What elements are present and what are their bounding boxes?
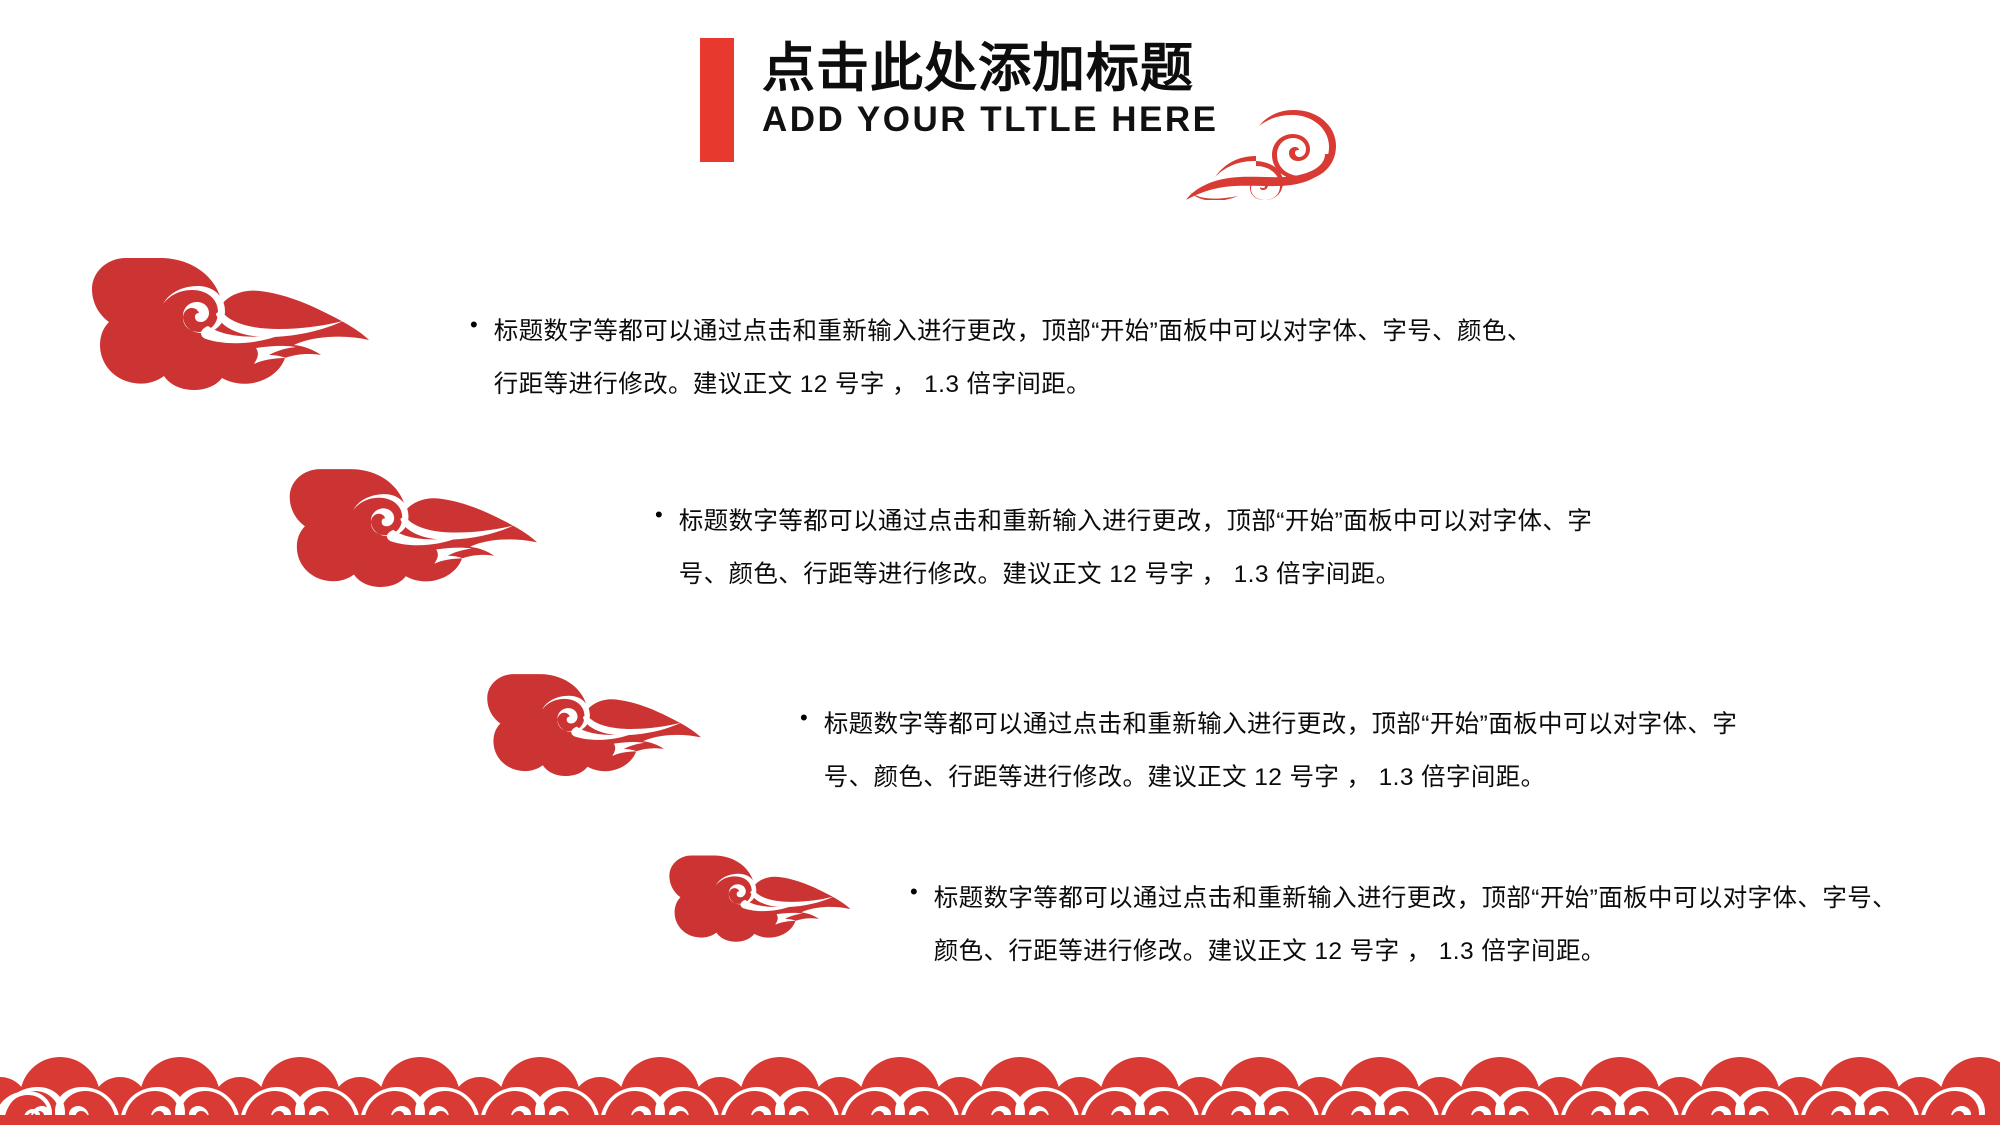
content-row: • 标题数字等都可以通过点击和重新输入进行更改，顶部“开始”面板中可以对字体、字… — [0, 830, 2000, 1020]
content-row: • 标题数字等都可以通过点击和重新输入进行更改，顶部“开始”面板中可以对字体、字… — [0, 650, 2000, 840]
title-text-group: 点击此处添加标题 ADD YOUR TLTLE HERE — [762, 38, 1219, 142]
bullet-line-1: 标题数字等都可以通过点击和重新输入进行更改，顶部“开始”面板中可以对字体、字 — [824, 711, 1738, 738]
bullet-line-1: 标题数字等都可以通过点击和重新输入进行更改，顶部“开始”面板中可以对字体、字号、… — [494, 318, 1532, 345]
bullet-marker: • — [470, 305, 478, 345]
content-row: • 标题数字等都可以通过点击和重新输入进行更改，顶部“开始”面板中可以对字体、字… — [0, 420, 2000, 640]
bullet-text: 标题数字等都可以通过点击和重新输入进行更改，顶部“开始”面板中可以对字体、字 号… — [824, 698, 1738, 804]
auspicious-cloud-icon — [70, 250, 370, 395]
bullet-marker: • — [655, 495, 663, 535]
bullet-line-2: 号、颜色、行距等进行修改。建议正文 12 号字 ， 1.3 倍字间距。 — [824, 751, 1738, 804]
title-chinese: 点击此处添加标题 — [762, 40, 1219, 97]
bullet-line-2: 号、颜色、行距等进行修改。建议正文 12 号字 ， 1.3 倍字间距。 — [679, 548, 1593, 601]
bullet-item: • 标题数字等都可以通过点击和重新输入进行更改，顶部“开始”面板中可以对字体、字… — [470, 305, 1532, 411]
auspicious-cloud-icon — [470, 668, 702, 781]
bullet-text: 标题数字等都可以通过点击和重新输入进行更改，顶部“开始”面板中可以对字体、字号、… — [934, 872, 1897, 978]
bullet-line-1: 标题数字等都可以通过点击和重新输入进行更改，顶部“开始”面板中可以对字体、字号、 — [934, 885, 1897, 912]
bullet-text: 标题数字等都可以通过点击和重新输入进行更改，顶部“开始”面板中可以对字体、字 号… — [679, 495, 1593, 601]
slide-canvas: 点击此处添加标题 ADD YOUR TLTLE HERE — [0, 0, 2000, 1125]
bullet-marker: • — [800, 698, 808, 738]
bullet-marker: • — [910, 872, 918, 912]
auspicious-cloud-icon — [655, 850, 851, 947]
bullet-line-2: 行距等进行修改。建议正文 12 号字 ， 1.3 倍字间距。 — [494, 358, 1532, 411]
bullet-line-2: 颜色、行距等进行修改。建议正文 12 号字 ， 1.3 倍字间距。 — [934, 925, 1897, 978]
auspicious-cloud-icon — [270, 462, 538, 592]
title-accent-bar — [700, 38, 734, 162]
cloud-wave-border — [0, 1035, 2000, 1125]
page-title: 点击此处添加标题 ADD YOUR TLTLE HERE — [700, 38, 1219, 162]
bullet-item: • 标题数字等都可以通过点击和重新输入进行更改，顶部“开始”面板中可以对字体、字… — [910, 872, 1897, 978]
bullet-item: • 标题数字等都可以通过点击和重新输入进行更改，顶部“开始”面板中可以对字体、字… — [655, 495, 1592, 601]
bullet-line-1: 标题数字等都可以通过点击和重新输入进行更改，顶部“开始”面板中可以对字体、字 — [679, 508, 1593, 535]
bullet-text: 标题数字等都可以通过点击和重新输入进行更改，顶部“开始”面板中可以对字体、字号、… — [494, 305, 1532, 411]
title-english: ADD YOUR TLTLE HERE — [762, 99, 1219, 142]
bullet-item: • 标题数字等都可以通过点击和重新输入进行更改，顶部“开始”面板中可以对字体、字… — [800, 698, 1737, 804]
